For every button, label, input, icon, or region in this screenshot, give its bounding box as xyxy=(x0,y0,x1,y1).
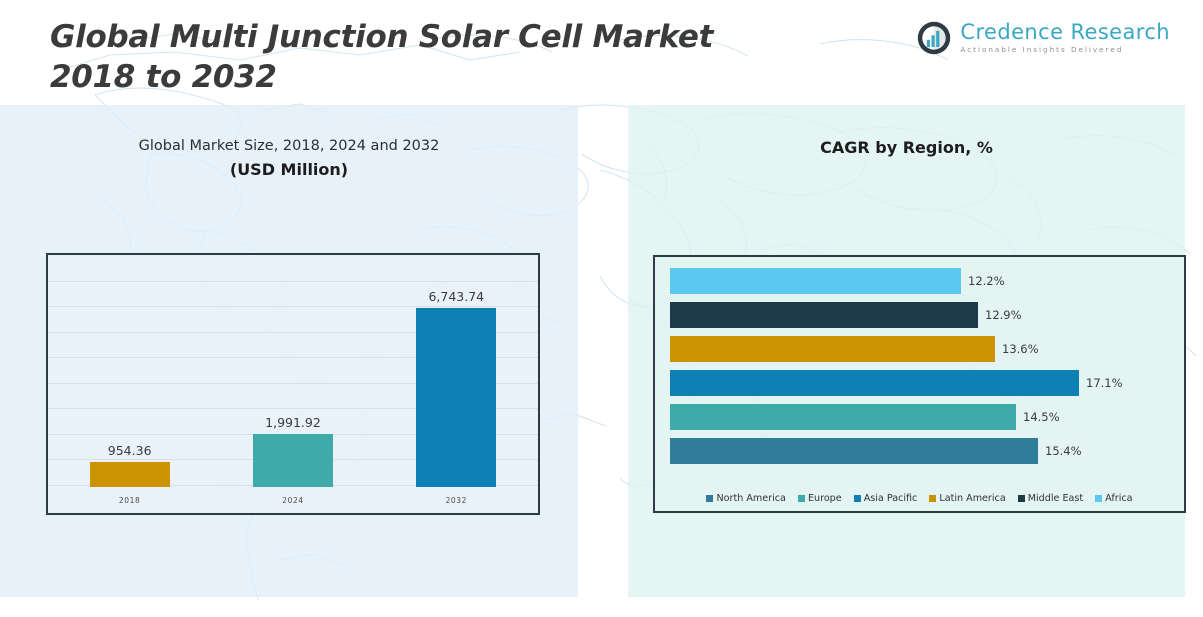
bar-value-label: 15.4% xyxy=(1045,444,1082,458)
bar-group: 6,743.74 xyxy=(375,275,538,487)
page-title: Global Multi Junction Solar Cell Market … xyxy=(50,17,830,97)
bar-value-label: 1,991.92 xyxy=(265,415,321,430)
bar-value-label: 12.9% xyxy=(985,308,1022,322)
bar-value-label: 6,743.74 xyxy=(428,289,484,304)
header: Global Multi Junction Solar Cell Market … xyxy=(0,0,1203,105)
logo-brand-name: Credence Research xyxy=(960,21,1170,44)
bar-category-label: 2032 xyxy=(375,496,538,505)
bar[interactable] xyxy=(670,336,995,362)
bar-row: 14.5% xyxy=(670,404,1175,430)
left-chart-units: (USD Million) xyxy=(0,160,578,179)
legend-label: Africa xyxy=(1105,493,1132,504)
bar-category-label: 2024 xyxy=(211,496,374,505)
cagr-plot-area: 12.2%12.9%13.6%17.1%14.5%15.4% xyxy=(670,268,1175,473)
cagr-legend: North AmericaEuropeAsia PacificLatin Ame… xyxy=(655,493,1184,504)
bar-value-label: 14.5% xyxy=(1023,410,1060,424)
bar-value-label: 17.1% xyxy=(1086,376,1123,390)
legend-swatch-icon xyxy=(929,495,936,502)
legend-label: Europe xyxy=(808,493,842,504)
bar[interactable] xyxy=(670,438,1038,464)
legend-swatch-icon xyxy=(1095,495,1102,502)
bar-group: 1,991.92 xyxy=(211,275,374,487)
bar-row: 12.2% xyxy=(670,268,1175,294)
bar-value-label: 13.6% xyxy=(1002,342,1039,356)
bar[interactable] xyxy=(670,302,978,328)
bar-row: 17.1% xyxy=(670,370,1175,396)
legend-label: Middle East xyxy=(1028,493,1083,504)
bar[interactable] xyxy=(416,308,496,487)
legend-swatch-icon xyxy=(798,495,805,502)
market-size-bar-chart: 954.3620181,991.9220246,743.742032 xyxy=(46,253,540,515)
legend-item[interactable]: Middle East xyxy=(1018,493,1083,504)
legend-item[interactable]: Europe xyxy=(798,493,842,504)
bar-chart-circle-icon xyxy=(916,20,952,56)
brand-logo: Credence Research Actionable Insights De… xyxy=(916,20,1170,56)
bar[interactable] xyxy=(90,462,170,487)
legend-item[interactable]: Africa xyxy=(1095,493,1132,504)
bar-row: 13.6% xyxy=(670,336,1175,362)
bar[interactable] xyxy=(670,370,1079,396)
left-chart-subtitle: Global Market Size, 2018, 2024 and 2032 xyxy=(0,138,578,154)
bar[interactable] xyxy=(670,268,961,294)
bar-group: 954.36 xyxy=(48,275,211,487)
bar-row: 15.4% xyxy=(670,438,1175,464)
bar-value-label: 12.2% xyxy=(968,274,1005,288)
legend-item[interactable]: Asia Pacific xyxy=(854,493,918,504)
bar[interactable] xyxy=(670,404,1016,430)
logo-tagline: Actionable Insights Delivered xyxy=(960,45,1170,55)
cagr-by-region-bar-chart: 12.2%12.9%13.6%17.1%14.5%15.4% North Ame… xyxy=(653,255,1186,513)
bar[interactable] xyxy=(253,434,333,487)
legend-item[interactable]: North America xyxy=(706,493,785,504)
legend-swatch-icon xyxy=(706,495,713,502)
right-chart-title: CAGR by Region, % xyxy=(628,138,1185,157)
legend-label: Asia Pacific xyxy=(864,493,918,504)
legend-swatch-icon xyxy=(1018,495,1025,502)
market-size-plot-area: 954.3620181,991.9220246,743.742032 xyxy=(48,255,538,513)
bar-category-label: 2018 xyxy=(48,496,211,505)
legend-item[interactable]: Latin America xyxy=(929,493,1005,504)
legend-label: Latin America xyxy=(939,493,1005,504)
legend-label: North America xyxy=(716,493,785,504)
bar-value-label: 954.36 xyxy=(108,443,152,458)
legend-swatch-icon xyxy=(854,495,861,502)
bar-row: 12.9% xyxy=(670,302,1175,328)
